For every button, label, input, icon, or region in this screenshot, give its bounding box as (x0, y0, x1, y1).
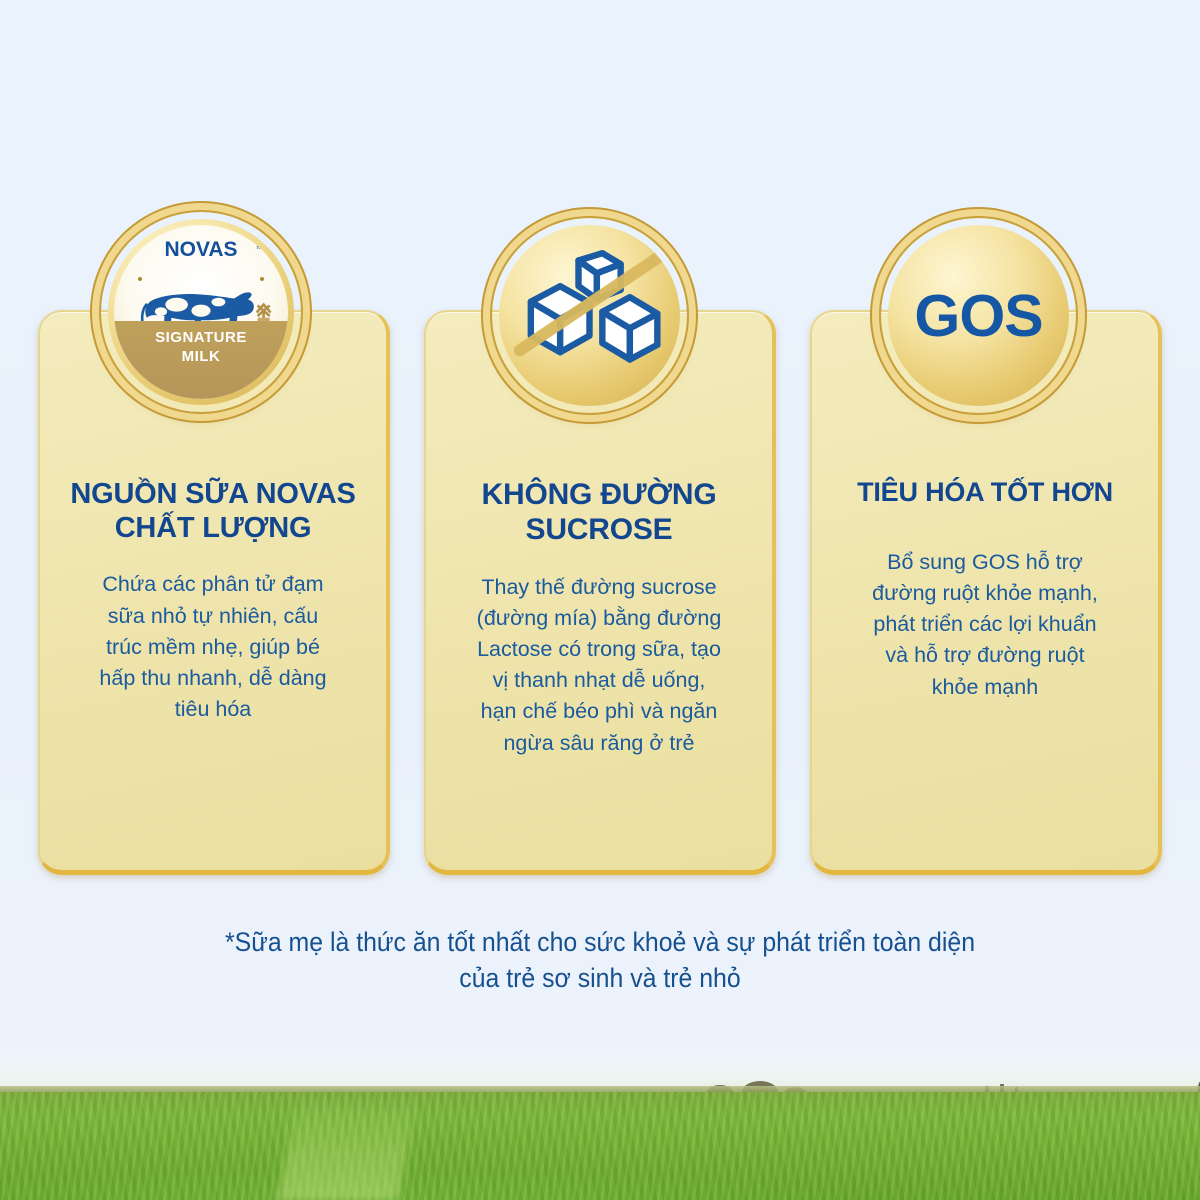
band-line-1: SIGNATURE (155, 329, 247, 346)
card-title: NGUỒN SỮA NOVAS CHẤT LƯỢNG (60, 477, 366, 545)
no-sucrose-badge-icon (492, 218, 687, 413)
card-body: TIÊU HÓA TỐT HƠN Bổ sung GOS hỗ trợ đườn… (812, 477, 1158, 703)
grass-field-photo (0, 1050, 1200, 1200)
signature-milk-band-text: SIGNATURE MILK (114, 329, 288, 367)
novas-badge-inner: NOVAS ™ (114, 225, 288, 399)
gos-badge-icon: GOS (881, 218, 1076, 413)
card-body: KHÔNG ĐƯỜNG SUCROSE Thay thế đường sucro… (426, 477, 772, 759)
card-description: Bổ sung GOS hỗ trợ đường ruột khỏe mạnh,… (832, 547, 1138, 703)
trademark-icon: ™ (256, 245, 264, 254)
band-line-2: MILK (182, 348, 221, 365)
infographic-stage: NGUỒN SỮA NOVAS CHẤT LƯỢNG Chứa các phân… (0, 0, 1200, 1200)
benefit-cards-group: NGUỒN SỮA NOVAS CHẤT LƯỢNG Chứa các phân… (0, 0, 1200, 1200)
gos-label: GOS (888, 225, 1069, 406)
signature-milk-band: SIGNATURE MILK (114, 321, 288, 399)
grass-track-path (278, 1094, 419, 1200)
card-title: TIÊU HÓA TỐT HƠN (832, 477, 1138, 509)
grass-texture (0, 1092, 1200, 1200)
breastmilk-footnote: *Sữa mẹ là thức ăn tốt nhất cho sức khoẻ… (48, 925, 1152, 997)
card-body: NGUỒN SỮA NOVAS CHẤT LƯỢNG Chứa các phân… (40, 477, 386, 725)
card-description: Chứa các phân tử đạm sữa nhỏ tự nhiên, c… (60, 569, 366, 725)
card-description: Thay thế đường sucrose (đường mía) bằng … (446, 572, 752, 759)
card-title: KHÔNG ĐƯỜNG SUCROSE (446, 477, 752, 548)
novas-signature-milk-badge-icon: NOVAS ™ (101, 212, 301, 412)
sugar-cubes-crossed-out-icon (507, 233, 672, 398)
